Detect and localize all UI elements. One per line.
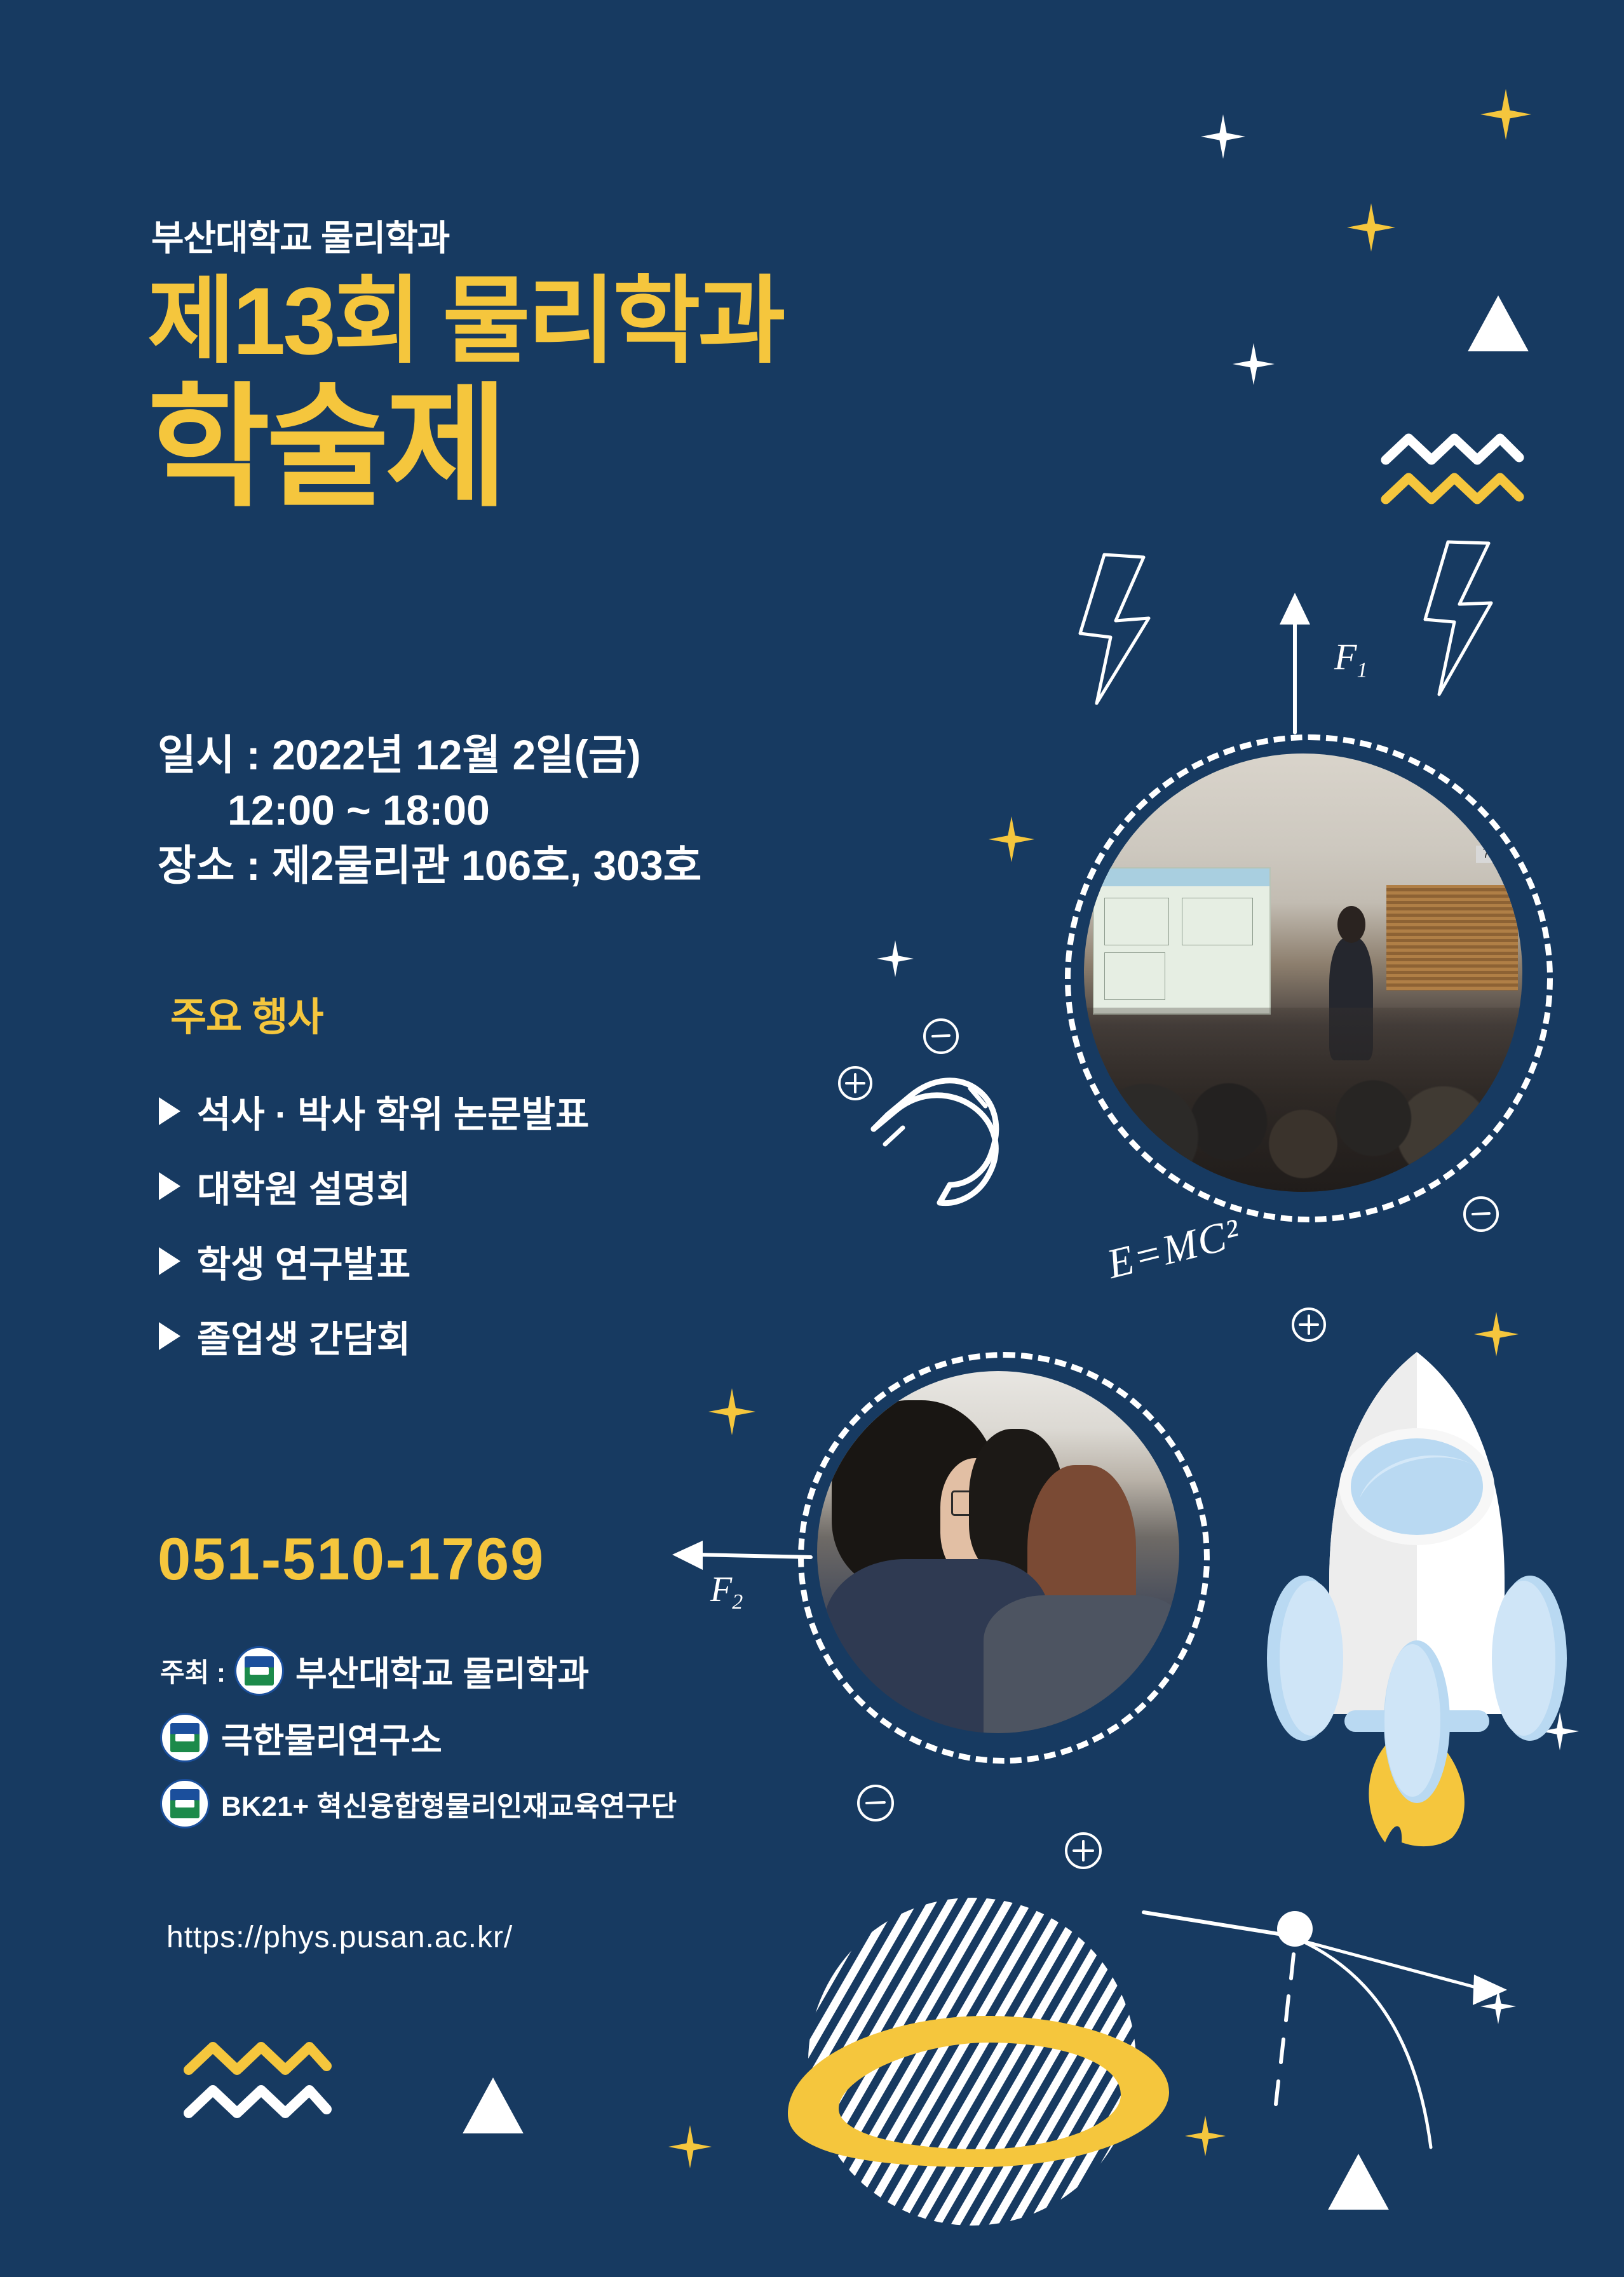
screen-plot-1: [1104, 898, 1168, 945]
star-yellow-topright-1: [1480, 89, 1531, 140]
events-heading: 주요 행사: [170, 985, 323, 1042]
event-list-item-4: 졸업생 간담회: [159, 1299, 794, 1374]
event-time: 12:00 ~ 18:00: [158, 783, 701, 838]
host-list: 주최 : 부산대학교 물리학과 극한물리연구소 BK21+ 혁신융합형물리인재교…: [160, 1645, 954, 1845]
host-row-1: 주최 : 부산대학교 물리학과: [160, 1645, 954, 1696]
website-url[interactable]: https://phys.pusan.ac.kr/: [166, 1920, 513, 1955]
zigzag-white-bottomleft: [184, 2084, 330, 2118]
slide-page-number: 7: [1476, 846, 1496, 863]
zigzag-yellow-bottomleft: [184, 2041, 330, 2075]
event-date: 일시 : 2022년 12월 2일(금): [158, 727, 701, 783]
window-blind: [1386, 885, 1518, 990]
triangle-white-bottomright: [1328, 2154, 1389, 2210]
force-label-f2: F2: [710, 1569, 743, 1614]
star-yellow-topright-2: [1347, 203, 1395, 252]
screen-plot-3: [1104, 952, 1165, 1000]
magnet-icon: [861, 1051, 1020, 1210]
star-white-midleft-2: [877, 940, 914, 977]
event-list-item-3-label: 학생 연구발표: [197, 1234, 410, 1288]
zigzag-white-topright: [1382, 432, 1523, 465]
star-white-bottomright: [1480, 1989, 1516, 2024]
equation-emc2: E=MC²: [1102, 1209, 1246, 1288]
pnu-seal-icon: [160, 1779, 210, 1828]
event-list-item-3: 학생 연구발표: [159, 1224, 794, 1299]
planet-icon: [762, 1890, 1207, 2246]
host-label-3: BK21+ 혁신융합형물리인재교육연구단: [221, 1783, 677, 1824]
charge-minus-circle-2: [1461, 1194, 1501, 1234]
event-list-item-2: 대학원 설명회: [159, 1149, 794, 1224]
student-body-2: [984, 1595, 1179, 1733]
force-label-f1-sub: 1: [1357, 659, 1367, 682]
page-title-line1: 제13회 물리학과: [147, 273, 783, 368]
star-yellow-photo2-left: [708, 1388, 755, 1435]
lightning-bolt-icon-right: [1420, 537, 1509, 699]
contact-phone[interactable]: 051-510-1769: [158, 1525, 545, 1593]
triangle-white-bottomleft: [463, 2078, 524, 2133]
photo-lecture-hall: 7: [1084, 753, 1522, 1192]
pnu-seal-icon: [234, 1646, 284, 1696]
zigzag-yellow-topright: [1382, 471, 1523, 504]
force-label-f1-text: F: [1334, 636, 1357, 677]
lightning-bolt-icon-left: [1074, 550, 1163, 708]
triangle-white-topright: [1468, 295, 1529, 351]
triangle-bullet-icon: [159, 1322, 180, 1350]
event-list-item-1-label: 석사 · 박사 학위 논문발표: [197, 1084, 589, 1138]
event-list-item-4-label: 졸업생 간담회: [197, 1309, 410, 1363]
projection-screen: [1093, 867, 1271, 1015]
screen-header-band: [1094, 868, 1269, 886]
event-list-item-1: 석사 · 박사 학위 논문발표: [159, 1074, 794, 1149]
events-list: 석사 · 박사 학위 논문발표 대학원 설명회 학생 연구발표 졸업생 간담회: [159, 1074, 794, 1374]
rocket-icon: [1283, 1341, 1550, 1849]
poster-root: F1: [0, 0, 1624, 2277]
department-label: 부산대학교 물리학과: [151, 210, 449, 261]
host-prefix-label: 주최 :: [160, 1651, 226, 1690]
host-row-3: BK21+ 혁신융합형물리인재교육연구단: [160, 1779, 954, 1828]
star-yellow-bottomleft: [668, 2125, 712, 2168]
event-place: 장소 : 제2물리관 106호, 303호: [158, 838, 701, 893]
lecture-hall-image: 7: [1084, 753, 1522, 1192]
screen-plot-2: [1182, 898, 1253, 945]
force-label-f2-sub: 2: [732, 1590, 743, 1614]
host-label-1: 부산대학교 물리학과: [295, 1645, 589, 1696]
star-yellow-bottomcenter: [1185, 2116, 1226, 2156]
audience-figures: [1084, 1008, 1522, 1192]
charge-plus-circle-3: [1062, 1830, 1104, 1872]
host-label-2: 극한물리연구소: [221, 1712, 442, 1762]
charge-plus-circle-2: [1290, 1306, 1328, 1344]
pnu-seal-icon: [160, 1713, 210, 1762]
star-yellow-midleft-1: [989, 816, 1034, 862]
force-label-f2-text: F: [710, 1570, 732, 1609]
host-row-2: 극한물리연구소: [160, 1712, 954, 1762]
event-info-block: 일시 : 2022년 12월 2일(금) 12:00 ~ 18:00 장소 : …: [158, 727, 701, 893]
charge-minus-circle-1: [921, 1017, 961, 1056]
triangle-bullet-icon: [159, 1097, 180, 1125]
triangle-bullet-icon: [159, 1172, 180, 1200]
triangle-bullet-icon: [159, 1247, 180, 1275]
star-white-topleft-1: [1201, 114, 1245, 159]
event-list-item-2-label: 대학원 설명회: [197, 1159, 410, 1213]
star-white-topright-3: [1233, 343, 1275, 385]
force-label-f1: F1: [1334, 635, 1367, 683]
page-title-line2: 학술제: [147, 381, 504, 515]
